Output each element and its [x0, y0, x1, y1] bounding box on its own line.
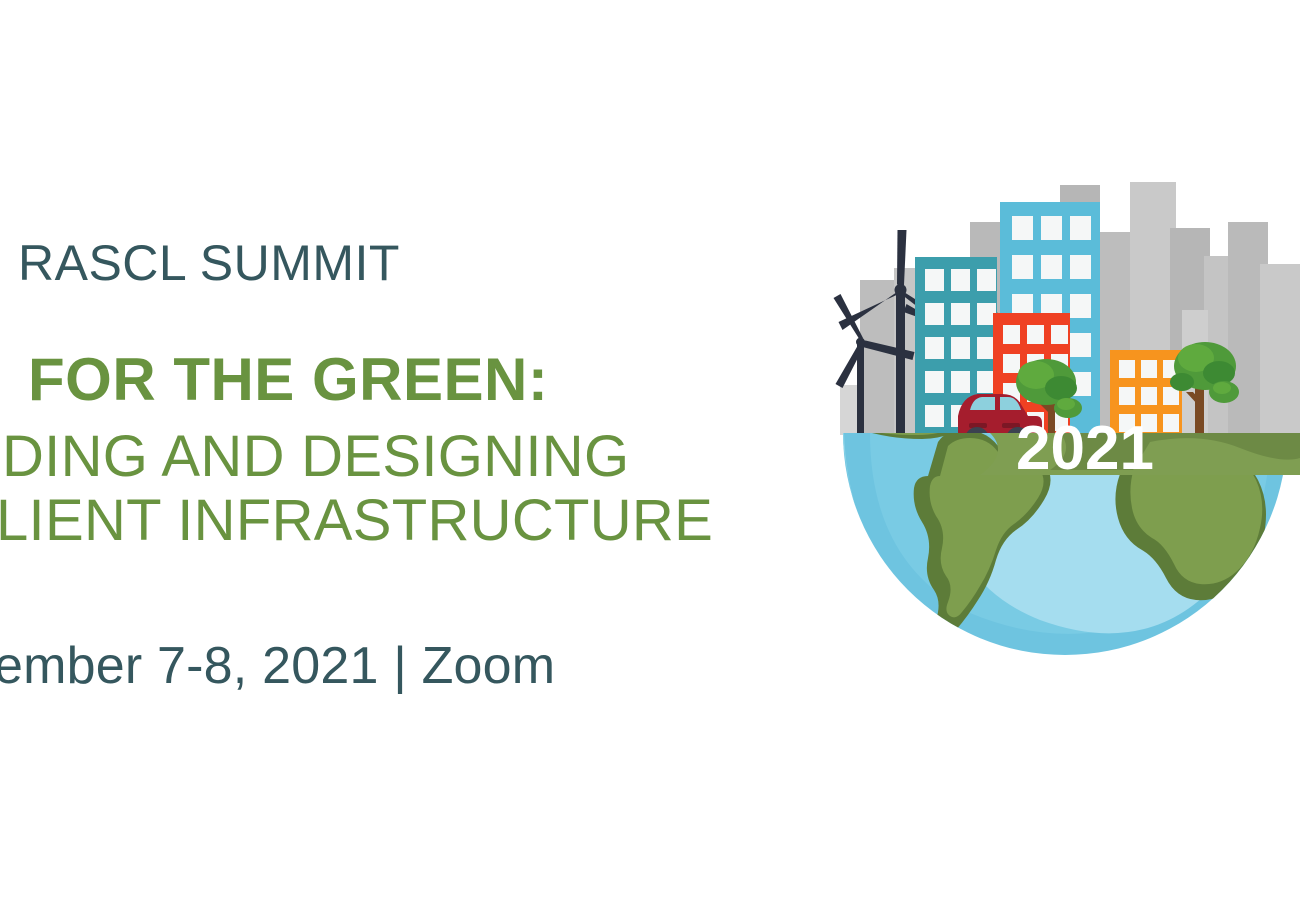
headline-line-1: FOR THE GREEN: — [28, 350, 548, 410]
year-overlay-label: 2021 — [1016, 418, 1154, 480]
eyebrow-label: RASCL SUMMIT — [18, 238, 400, 288]
event-date-location: ember 7-8, 2021 | Zoom — [0, 640, 555, 692]
banner-text-block: RASCL SUMMIT FOR THE GREEN: DING AND DES… — [0, 0, 820, 900]
headline-line-3: LIENT INFRASTRUCTURE — [0, 492, 713, 550]
headline-line-2: DING AND DESIGNING — [2, 428, 629, 486]
event-banner: RASCL SUMMIT FOR THE GREEN: DING AND DES… — [0, 0, 1300, 900]
